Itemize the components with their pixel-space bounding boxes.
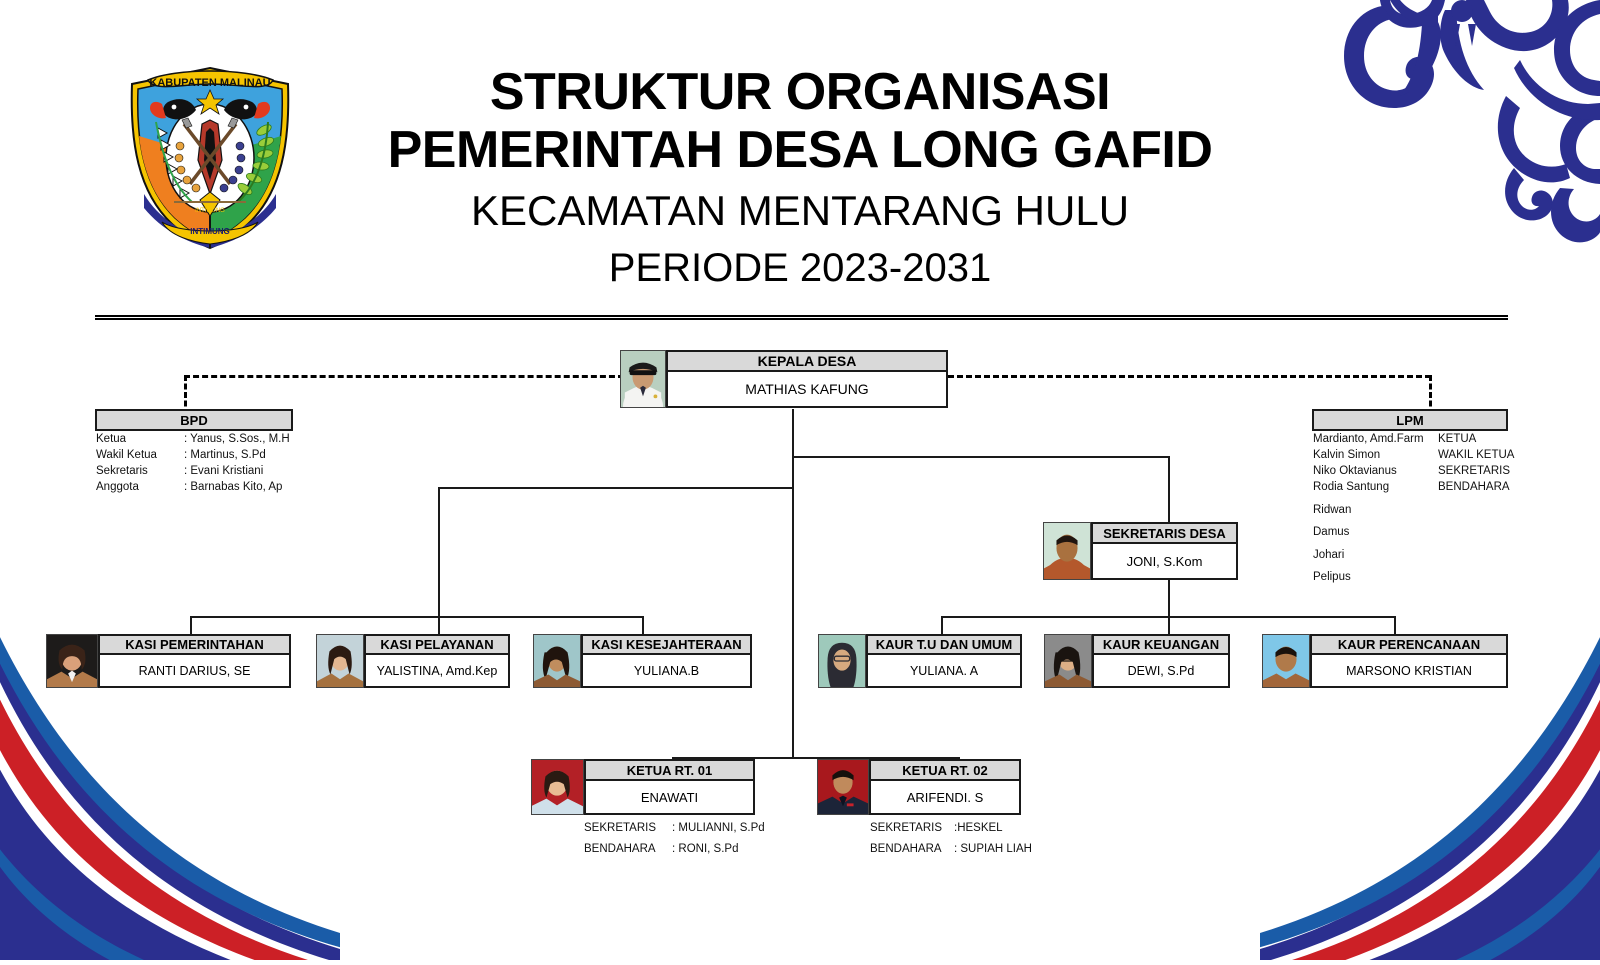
connector-kasi-pelayanan-drop bbox=[438, 616, 440, 636]
node-kaur-perencanaan[interactable]: KAUR PERENCANAAN MARSONO KRISTIAN bbox=[1262, 634, 1508, 688]
list-item: Damus bbox=[1313, 527, 1523, 539]
node-kaur-keuangan[interactable]: KAUR KEUANGAN DEWI, S.Pd bbox=[1044, 634, 1230, 688]
connector-kaur-perencanaan-drop bbox=[1394, 616, 1396, 636]
node-title-kaur-tu-dan-umum: KAUR T.U DAN UMUM bbox=[866, 634, 1022, 655]
rt01-role-0: SEKRETARIS bbox=[584, 823, 672, 835]
photo-kaur-tu-dan-umum bbox=[818, 634, 866, 688]
bpd-name-3: : Barnabas Kito, Ap bbox=[184, 482, 282, 494]
node-ketua-rt-01[interactable]: KETUA RT. 01 ENAWATI bbox=[531, 759, 755, 815]
list-item: Pelipus bbox=[1313, 572, 1523, 584]
node-title-kasi-pemerintahan: KASI PEMERINTAHAN bbox=[98, 634, 291, 655]
org-chart: KEPALA DESA MATHIAS KAFUNG BPD Ketua : Y… bbox=[0, 0, 1600, 960]
node-kasi-pelayanan[interactable]: KASI PELAYANAN YALISTINA, Amd.Kep bbox=[316, 634, 510, 688]
bpd-name-1: : Martinus, S.Pd bbox=[184, 450, 266, 462]
list-item: Wakil Ketua : Martinus, S.Pd bbox=[96, 450, 326, 462]
list-item: Rodia Santung BENDAHARA bbox=[1313, 482, 1523, 494]
node-name-kasi-pelayanan: YALISTINA, Amd.Kep bbox=[364, 655, 510, 688]
photo-ketua-rt-02 bbox=[817, 759, 869, 815]
node-title-bpd: BPD bbox=[180, 413, 207, 428]
node-ketua-rt-02[interactable]: KETUA RT. 02 ARIFENDI. S bbox=[817, 759, 1021, 815]
node-bpd-header[interactable]: BPD bbox=[95, 409, 293, 431]
node-kaur-tu-dan-umum[interactable]: KAUR T.U DAN UMUM YULIANA. A bbox=[818, 634, 1022, 688]
lpm-name-2: Niko Oktavianus bbox=[1313, 466, 1438, 478]
rt02-role-0: SEKRETARIS bbox=[870, 823, 954, 835]
lpm-role-0: KETUA bbox=[1438, 434, 1476, 446]
node-kepala-desa[interactable]: KEPALA DESA MATHIAS KAFUNG bbox=[620, 350, 948, 408]
list-item: BENDAHARA : RONI, S.Pd bbox=[584, 844, 765, 856]
rt02-name-1: : SUPIAH LIAH bbox=[954, 844, 1032, 856]
bpd-member-list: Ketua : Yanus, S.Sos., M.H Wakil Ketua :… bbox=[96, 434, 326, 494]
node-name-kaur-keuangan: DEWI, S.Pd bbox=[1092, 655, 1230, 688]
rt02-staff-list: SEKRETARIS :HESKEL BENDAHARA : SUPIAH LI… bbox=[870, 823, 1032, 855]
photo-kasi-pelayanan bbox=[316, 634, 364, 688]
node-title-sekretaris-desa: SEKRETARIS DESA bbox=[1091, 522, 1238, 544]
node-title-kepala-desa: KEPALA DESA bbox=[666, 350, 948, 372]
connector-kasi-left-drop bbox=[438, 487, 440, 617]
connector-to-sekretaris-horizontal bbox=[792, 456, 1170, 458]
list-item: Ridwan bbox=[1313, 505, 1523, 517]
node-name-ketua-rt-01: ENAWATI bbox=[584, 781, 755, 815]
photo-ketua-rt-01 bbox=[531, 759, 584, 815]
node-name-sekretaris-desa: JONI, S.Kom bbox=[1091, 544, 1238, 580]
rt01-name-1: : RONI, S.Pd bbox=[672, 844, 738, 856]
photo-sekretaris-desa bbox=[1043, 522, 1091, 580]
lpm-name-0: Mardianto, Amd.Farm bbox=[1313, 434, 1438, 446]
rt02-role-1: BENDAHARA bbox=[870, 844, 954, 856]
lpm-role-3: BENDAHARA bbox=[1438, 482, 1510, 494]
bpd-name-0: : Yanus, S.Sos., M.H bbox=[184, 434, 290, 446]
bpd-role-0: Ketua bbox=[96, 434, 184, 446]
node-title-lpm: LPM bbox=[1396, 413, 1423, 428]
bpd-role-1: Wakil Ketua bbox=[96, 450, 184, 462]
connector-kasi-kesejahteraan-drop bbox=[642, 616, 644, 636]
connector-kepala-to-lpm-horizontal bbox=[948, 375, 1431, 378]
lpm-member-list: Mardianto, Amd.Farm KETUA Kalvin Simon W… bbox=[1313, 434, 1523, 584]
lpm-name-6: Johari bbox=[1313, 550, 1438, 562]
lpm-name-1: Kalvin Simon bbox=[1313, 450, 1438, 462]
list-item: Mardianto, Amd.Farm KETUA bbox=[1313, 434, 1523, 446]
connector-to-sekretaris-vertical bbox=[1168, 456, 1170, 524]
rt02-name-0: :HESKEL bbox=[954, 823, 1003, 835]
list-item: Sekretaris : Evani Kristiani bbox=[96, 466, 326, 478]
connector-kepala-to-bpd-horizontal bbox=[184, 375, 624, 378]
lpm-name-5: Damus bbox=[1313, 527, 1438, 539]
node-title-kaur-keuangan: KAUR KEUANGAN bbox=[1092, 634, 1230, 655]
node-sekretaris-desa[interactable]: SEKRETARIS DESA JONI, S.Kom bbox=[1043, 522, 1238, 580]
node-name-kaur-perencanaan: MARSONO KRISTIAN bbox=[1310, 655, 1508, 688]
node-title-ketua-rt-02: KETUA RT. 02 bbox=[869, 759, 1021, 781]
connector-kasi-bus-upper bbox=[438, 487, 794, 489]
connector-kasi-pemerintahan-drop bbox=[190, 616, 192, 636]
list-item: SEKRETARIS : MULIANNI, S.Pd bbox=[584, 823, 765, 835]
list-item: BENDAHARA : SUPIAH LIAH bbox=[870, 844, 1032, 856]
connector-sekretaris-drop bbox=[1168, 580, 1170, 616]
lpm-role-2: SEKRETARIS bbox=[1438, 466, 1510, 478]
connector-kasi-bus bbox=[190, 616, 644, 618]
node-title-kasi-pelayanan: KASI PELAYANAN bbox=[364, 634, 510, 655]
connector-main-spine bbox=[792, 409, 794, 757]
node-name-kepala-desa: MATHIAS KAFUNG bbox=[666, 372, 948, 408]
node-name-kaur-tu-dan-umum: YULIANA. A bbox=[866, 655, 1022, 688]
bpd-name-2: : Evani Kristiani bbox=[184, 466, 263, 478]
list-item: Johari bbox=[1313, 550, 1523, 562]
node-title-ketua-rt-01: KETUA RT. 01 bbox=[584, 759, 755, 781]
connector-kaur-tu-drop bbox=[941, 616, 943, 636]
list-item: Anggota : Barnabas Kito, Ap bbox=[96, 482, 326, 494]
org-chart-poster: KABUPATEN MALINAU bbox=[0, 0, 1600, 960]
connector-kaur-keuangan-drop bbox=[1168, 616, 1170, 636]
node-name-kasi-pemerintahan: RANTI DARIUS, SE bbox=[98, 655, 291, 688]
node-title-kasi-kesejahteraan: KASI KESEJAHTERAAN bbox=[581, 634, 752, 655]
bpd-role-2: Sekretaris bbox=[96, 466, 184, 478]
lpm-name-4: Ridwan bbox=[1313, 505, 1438, 517]
rt01-role-1: BENDAHARA bbox=[584, 844, 672, 856]
node-name-ketua-rt-02: ARIFENDI. S bbox=[869, 781, 1021, 815]
node-lpm-header[interactable]: LPM bbox=[1312, 409, 1508, 431]
list-item: Ketua : Yanus, S.Sos., M.H bbox=[96, 434, 326, 446]
bpd-role-3: Anggota bbox=[96, 482, 184, 494]
lpm-name-3: Rodia Santung bbox=[1313, 482, 1438, 494]
lpm-name-7: Pelipus bbox=[1313, 572, 1438, 584]
list-item: Kalvin Simon WAKIL KETUA bbox=[1313, 450, 1523, 462]
rt01-name-0: : MULIANNI, S.Pd bbox=[672, 823, 765, 835]
list-item: Niko Oktavianus SEKRETARIS bbox=[1313, 466, 1523, 478]
photo-kasi-kesejahteraan bbox=[533, 634, 581, 688]
list-item: SEKRETARIS :HESKEL bbox=[870, 823, 1032, 835]
node-name-kasi-kesejahteraan: YULIANA.B bbox=[581, 655, 752, 688]
photo-kaur-keuangan bbox=[1044, 634, 1092, 688]
photo-kasi-pemerintahan bbox=[46, 634, 98, 688]
photo-kepala-desa bbox=[620, 350, 666, 408]
node-kasi-kesejahteraan[interactable]: KASI KESEJAHTERAAN YULIANA.B bbox=[533, 634, 752, 688]
node-title-kaur-perencanaan: KAUR PERENCANAAN bbox=[1310, 634, 1508, 655]
node-kasi-pemerintahan[interactable]: KASI PEMERINTAHAN RANTI DARIUS, SE bbox=[46, 634, 291, 688]
lpm-role-1: WAKIL KETUA bbox=[1438, 450, 1514, 462]
photo-kaur-perencanaan bbox=[1262, 634, 1310, 688]
rt01-staff-list: SEKRETARIS : MULIANNI, S.Pd BENDAHARA : … bbox=[584, 823, 765, 855]
